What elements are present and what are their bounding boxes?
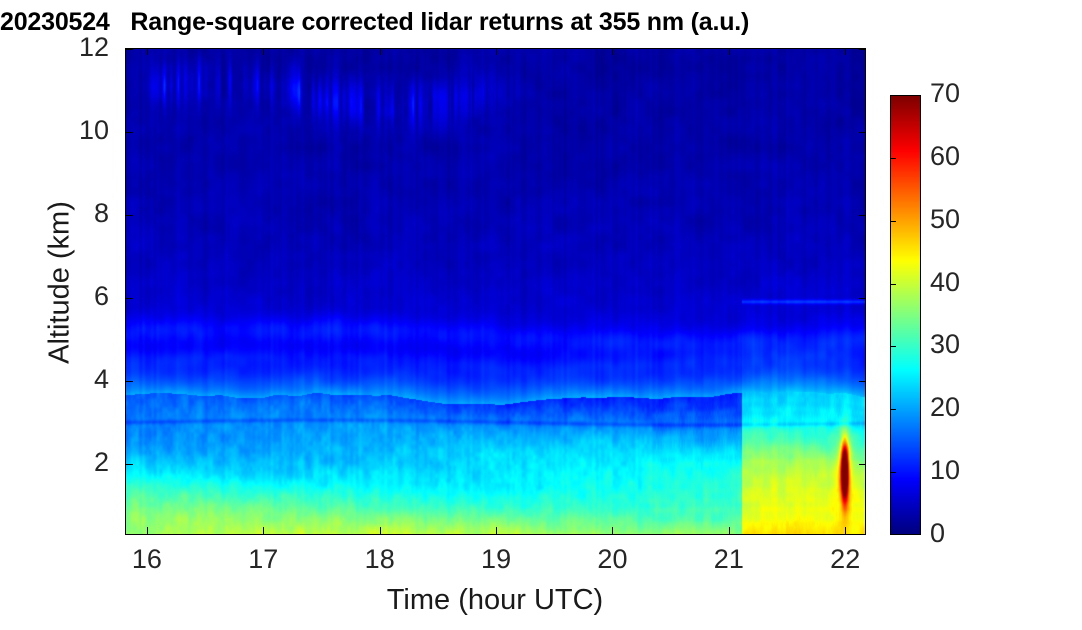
x-tick-label-17: 17 [233,544,293,575]
colorbar-tick-label-70: 70 [930,78,1000,109]
x-axis-title: Time (hour UTC) [265,584,725,617]
colorbar-tick-20 [890,409,896,410]
x-tick-17 [263,527,264,534]
y-tick-right-6 [859,298,865,299]
colorbar-tick-30 [890,346,896,347]
colorbar-tick-label-40: 40 [930,267,1000,298]
colorbar-tick-40 [890,284,896,285]
x-tick-label-18: 18 [350,544,410,575]
y-tick-label-12: 12 [49,32,109,63]
x-tick-21 [729,527,730,534]
y-axis-title: Altitude (km) [44,153,77,413]
y-tick-10 [126,132,133,133]
y-tick-right-12 [859,49,865,50]
colorbar-tick-label-20: 20 [930,392,1000,423]
colorbar-tick-label-10: 10 [930,455,1000,486]
x-tick-top-18 [380,49,381,55]
x-tick-label-20: 20 [582,544,642,575]
colorbar-tick-label-30: 30 [930,329,1000,360]
x-tick-top-20 [612,49,613,55]
x-tick-label-22: 22 [815,544,875,575]
y-tick-right-2 [859,464,865,465]
x-tick-16 [147,527,148,534]
y-tick-4 [126,381,133,382]
colorbar-tick-50 [890,221,896,222]
x-tick-top-22 [845,49,846,55]
x-tick-20 [612,527,613,534]
colorbar [890,95,921,535]
heatmap-plot-area [125,48,866,535]
y-tick-label-2: 2 [49,447,109,478]
colorbar-tick-10 [890,472,896,473]
x-tick-18 [380,527,381,534]
y-tick-right-4 [859,381,865,382]
x-tick-19 [496,527,497,534]
x-tick-top-17 [263,49,264,55]
y-tick-right-8 [859,215,865,216]
y-tick-2 [126,464,133,465]
x-tick-top-21 [729,49,730,55]
lidar-quicklook-figure: 20230524 Range-square corrected lidar re… [0,0,1082,630]
y-tick-right-10 [859,132,865,133]
x-tick-top-16 [147,49,148,55]
figure-title-text: Range-square corrected lidar returns at … [130,8,749,37]
lidar-heatmap-canvas [126,49,865,534]
y-tick-12 [126,49,133,50]
y-tick-label-10: 10 [49,115,109,146]
x-tick-22 [845,527,846,534]
x-tick-label-21: 21 [699,544,759,575]
y-tick-8 [126,215,133,216]
colorbar-tick-label-60: 60 [930,141,1000,172]
colorbar-gradient [891,96,920,534]
colorbar-tick-label-50: 50 [930,204,1000,235]
x-tick-label-19: 19 [466,544,526,575]
colorbar-tick-60 [890,158,896,159]
x-tick-label-16: 16 [117,544,177,575]
figure-title: 20230524 Range-square corrected lidar re… [0,8,1010,37]
x-tick-top-19 [496,49,497,55]
y-tick-6 [126,298,133,299]
colorbar-tick-label-0: 0 [930,518,1000,549]
